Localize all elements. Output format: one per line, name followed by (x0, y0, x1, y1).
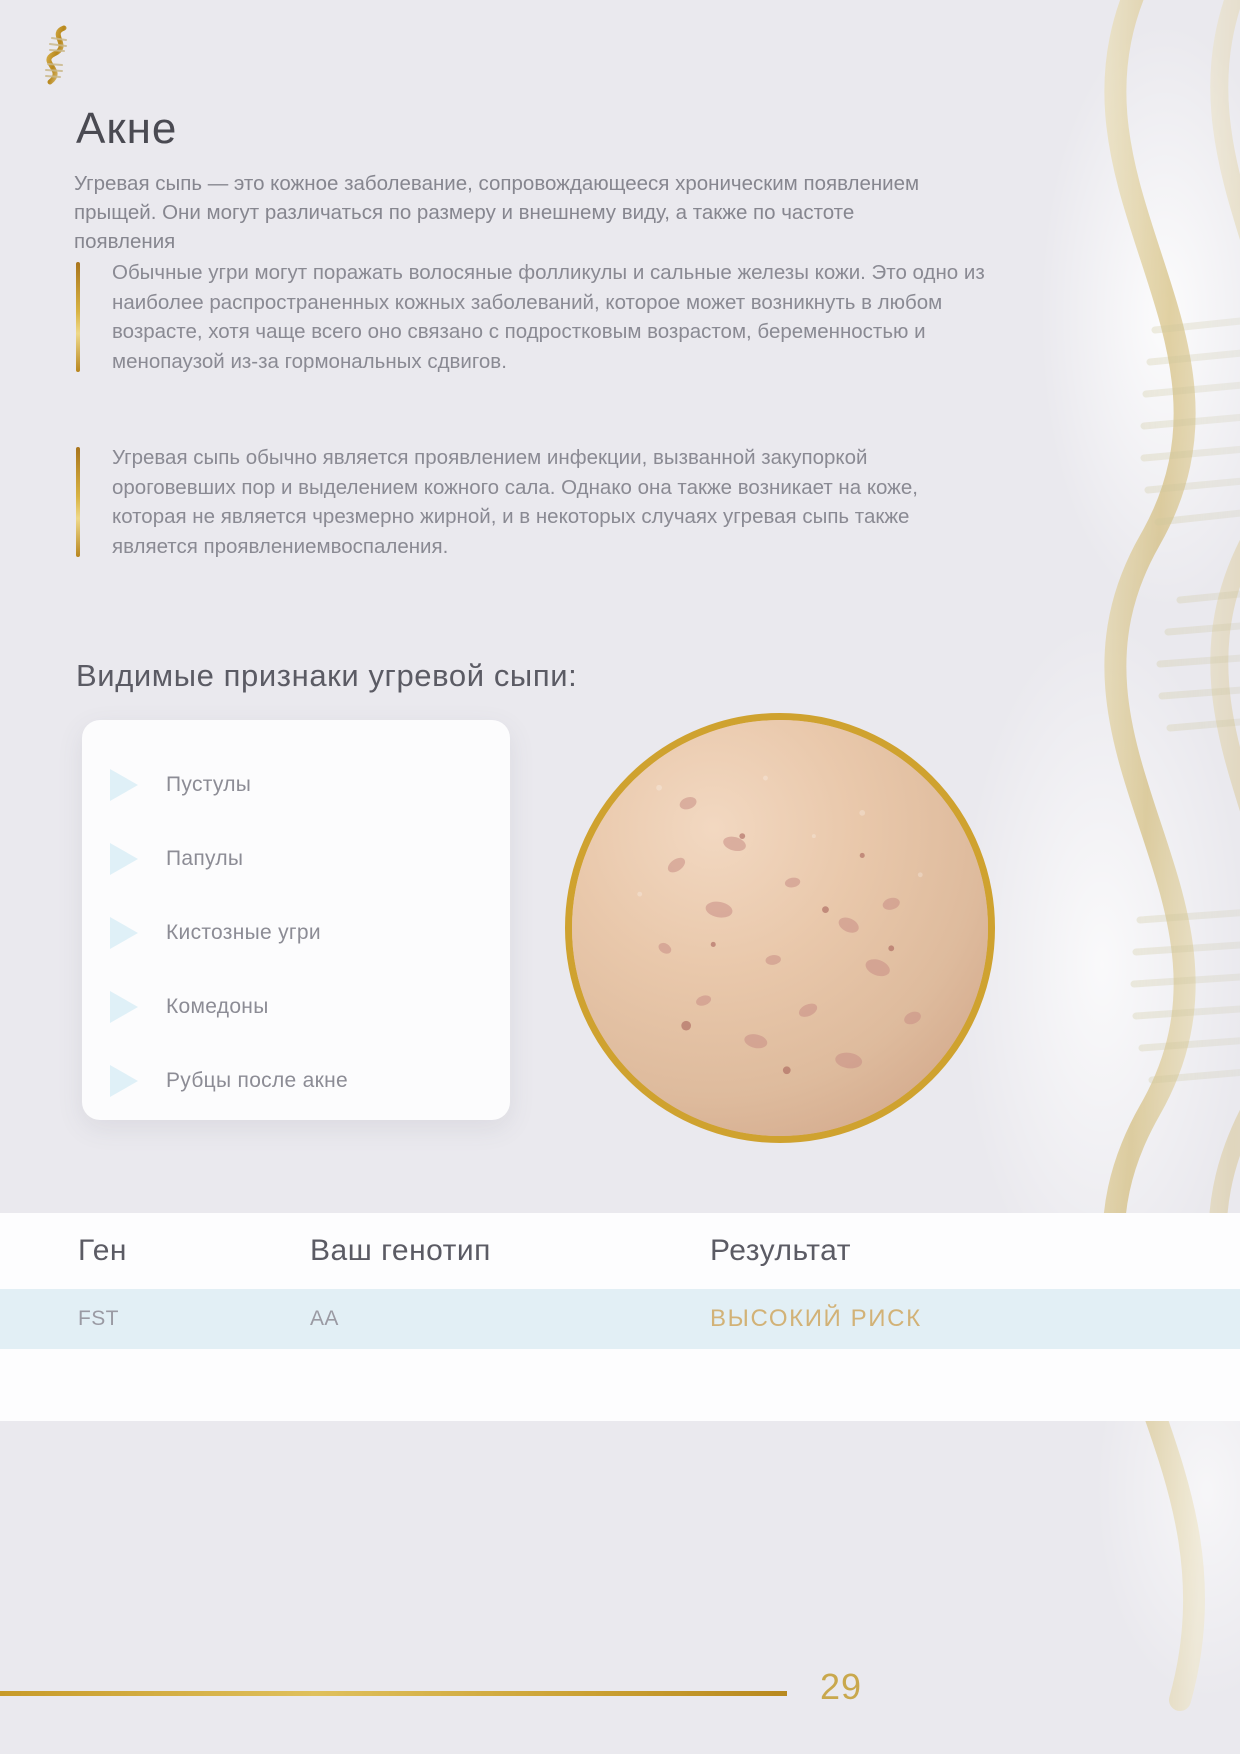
symptoms-card: Пустулы Папулы Кистозные угри Комедоны Р… (82, 720, 510, 1120)
highlight-block-2: Угревая сыпь обычно является проявлением… (76, 443, 992, 561)
skin-closeup-photo (565, 713, 995, 1143)
list-item: Папулы (82, 822, 510, 896)
table-row: FST AA ВЫСОКИЙ РИСК (0, 1289, 1240, 1349)
dna-helix-logo-icon (38, 24, 80, 86)
footer-divider (0, 1691, 787, 1696)
symptoms-list: Пустулы Папулы Кистозные угри Комедоны Р… (82, 748, 510, 1118)
cell-genotype: AA (310, 1307, 710, 1331)
document-page: Акне Угревая сыпь — это кожное заболеван… (0, 0, 1240, 1754)
triangle-bullet-icon (110, 991, 138, 1023)
intro-paragraph: Угревая сыпь — это кожное заболевание, с… (74, 169, 954, 256)
column-header-gene: Ген (0, 1234, 310, 1268)
highlight-block-2-text: Угревая сыпь обычно является проявлением… (112, 446, 918, 558)
column-header-genotype: Ваш генотип (310, 1234, 710, 1268)
triangle-bullet-icon (110, 1065, 138, 1097)
symptom-label: Комедоны (166, 995, 269, 1019)
symptom-label: Кистозные угри (166, 921, 321, 945)
page-number: 29 (820, 1666, 862, 1708)
list-item: Комедоны (82, 970, 510, 1044)
triangle-bullet-icon (110, 769, 138, 801)
triangle-bullet-icon (110, 843, 138, 875)
list-item: Кистозные угри (82, 896, 510, 970)
highlight-block-1: Обычные угри могут поражать волосяные фо… (76, 258, 992, 376)
symptom-label: Рубцы после акне (166, 1069, 348, 1093)
genetic-result-table: Ген Ваш генотип Результат FST AA ВЫСОКИЙ… (0, 1213, 1240, 1421)
symptom-label: Пустулы (166, 773, 251, 797)
symptoms-heading: Видимые признаки угревой сыпи: (76, 658, 577, 694)
skin-texture-graphic (572, 720, 988, 1136)
cell-gene: FST (0, 1307, 310, 1331)
table-bottom-spacer (0, 1349, 1240, 1421)
column-header-result: Результат (710, 1234, 1162, 1268)
list-item: Рубцы после акне (82, 1044, 510, 1118)
list-item: Пустулы (82, 748, 510, 822)
highlight-block-1-text: Обычные угри могут поражать волосяные фо… (112, 261, 985, 373)
page-title: Акне (76, 107, 177, 151)
table-header-row: Ген Ваш генотип Результат (0, 1213, 1240, 1289)
triangle-bullet-icon (110, 917, 138, 949)
status-badge: ВЫСОКИЙ РИСК (710, 1305, 1162, 1333)
symptom-label: Папулы (166, 847, 243, 871)
